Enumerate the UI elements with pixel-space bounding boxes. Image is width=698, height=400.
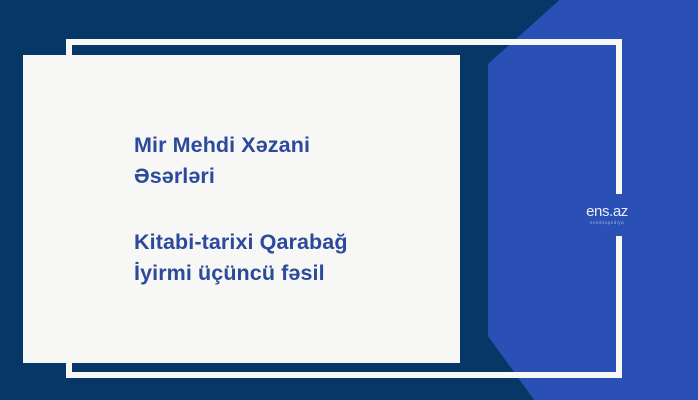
brand-subtitle-text: ensiklopediya: [590, 221, 624, 226]
content-card: Mir Mehdi Xəzani Əsərləri Kitabi-tarixi …: [23, 55, 460, 363]
brand-logo-badge[interactable]: ens.az ensiklopediya: [547, 194, 667, 236]
brand-name-text: ens.az: [586, 204, 628, 219]
slide-canvas: Mir Mehdi Xəzani Əsərləri Kitabi-tarixi …: [0, 0, 698, 400]
author-works-line: Əsərləri: [134, 160, 414, 191]
author-title-block: Mir Mehdi Xəzani Əsərləri: [134, 130, 414, 191]
author-name-line: Mir Mehdi Xəzani: [134, 130, 414, 161]
card-text-container: Mir Mehdi Xəzani Əsərləri Kitabi-tarixi …: [23, 130, 460, 288]
work-title-block: Kitabi-tarixi Qarabağ İyirmi üçüncü fəsi…: [134, 227, 414, 288]
work-chapter-line: İyirmi üçüncü fəsil: [134, 258, 414, 289]
work-title-line: Kitabi-tarixi Qarabağ: [134, 227, 414, 258]
